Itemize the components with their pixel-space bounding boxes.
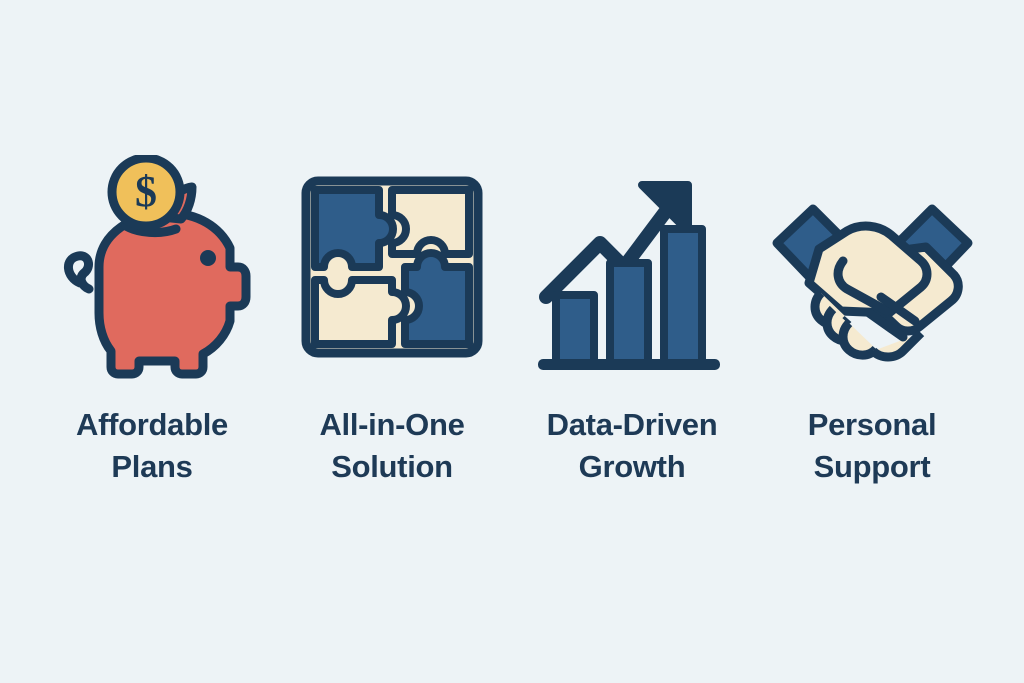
feature-label-line2: Growth — [517, 446, 747, 488]
handshake-icon — [757, 150, 987, 390]
feature-label-line1: Data-Driven — [517, 404, 747, 446]
svg-text:$: $ — [135, 167, 157, 216]
piggy-bank-icon: $ — [37, 150, 267, 390]
feature-label-line2: Solution — [277, 446, 507, 488]
feature-label-line1: Affordable — [37, 404, 267, 446]
feature-label-affordable-plans: Affordable Plans — [37, 404, 267, 488]
feature-label-line2: Support — [757, 446, 987, 488]
feature-label-line1: All-in-One — [277, 404, 507, 446]
feature-label-data-driven-growth: Data-Driven Growth — [517, 404, 747, 488]
features-banner: $ Affordable Plans — [0, 0, 1024, 683]
features-row: $ Affordable Plans — [0, 0, 1024, 683]
feature-label-personal-support: Personal Support — [757, 404, 987, 488]
feature-item-data-driven-growth[interactable]: Data-Driven Growth — [512, 142, 752, 542]
feature-item-affordable-plans[interactable]: $ Affordable Plans — [32, 142, 272, 542]
feature-label-line2: Plans — [37, 446, 267, 488]
feature-label-all-in-one-solution: All-in-One Solution — [277, 404, 507, 488]
feature-label-line1: Personal — [757, 404, 987, 446]
puzzle-pieces-icon — [277, 150, 507, 390]
feature-item-personal-support[interactable]: Personal Support — [752, 142, 992, 542]
bar-chart-growth-icon — [517, 150, 747, 390]
feature-item-all-in-one-solution[interactable]: All-in-One Solution — [272, 142, 512, 542]
